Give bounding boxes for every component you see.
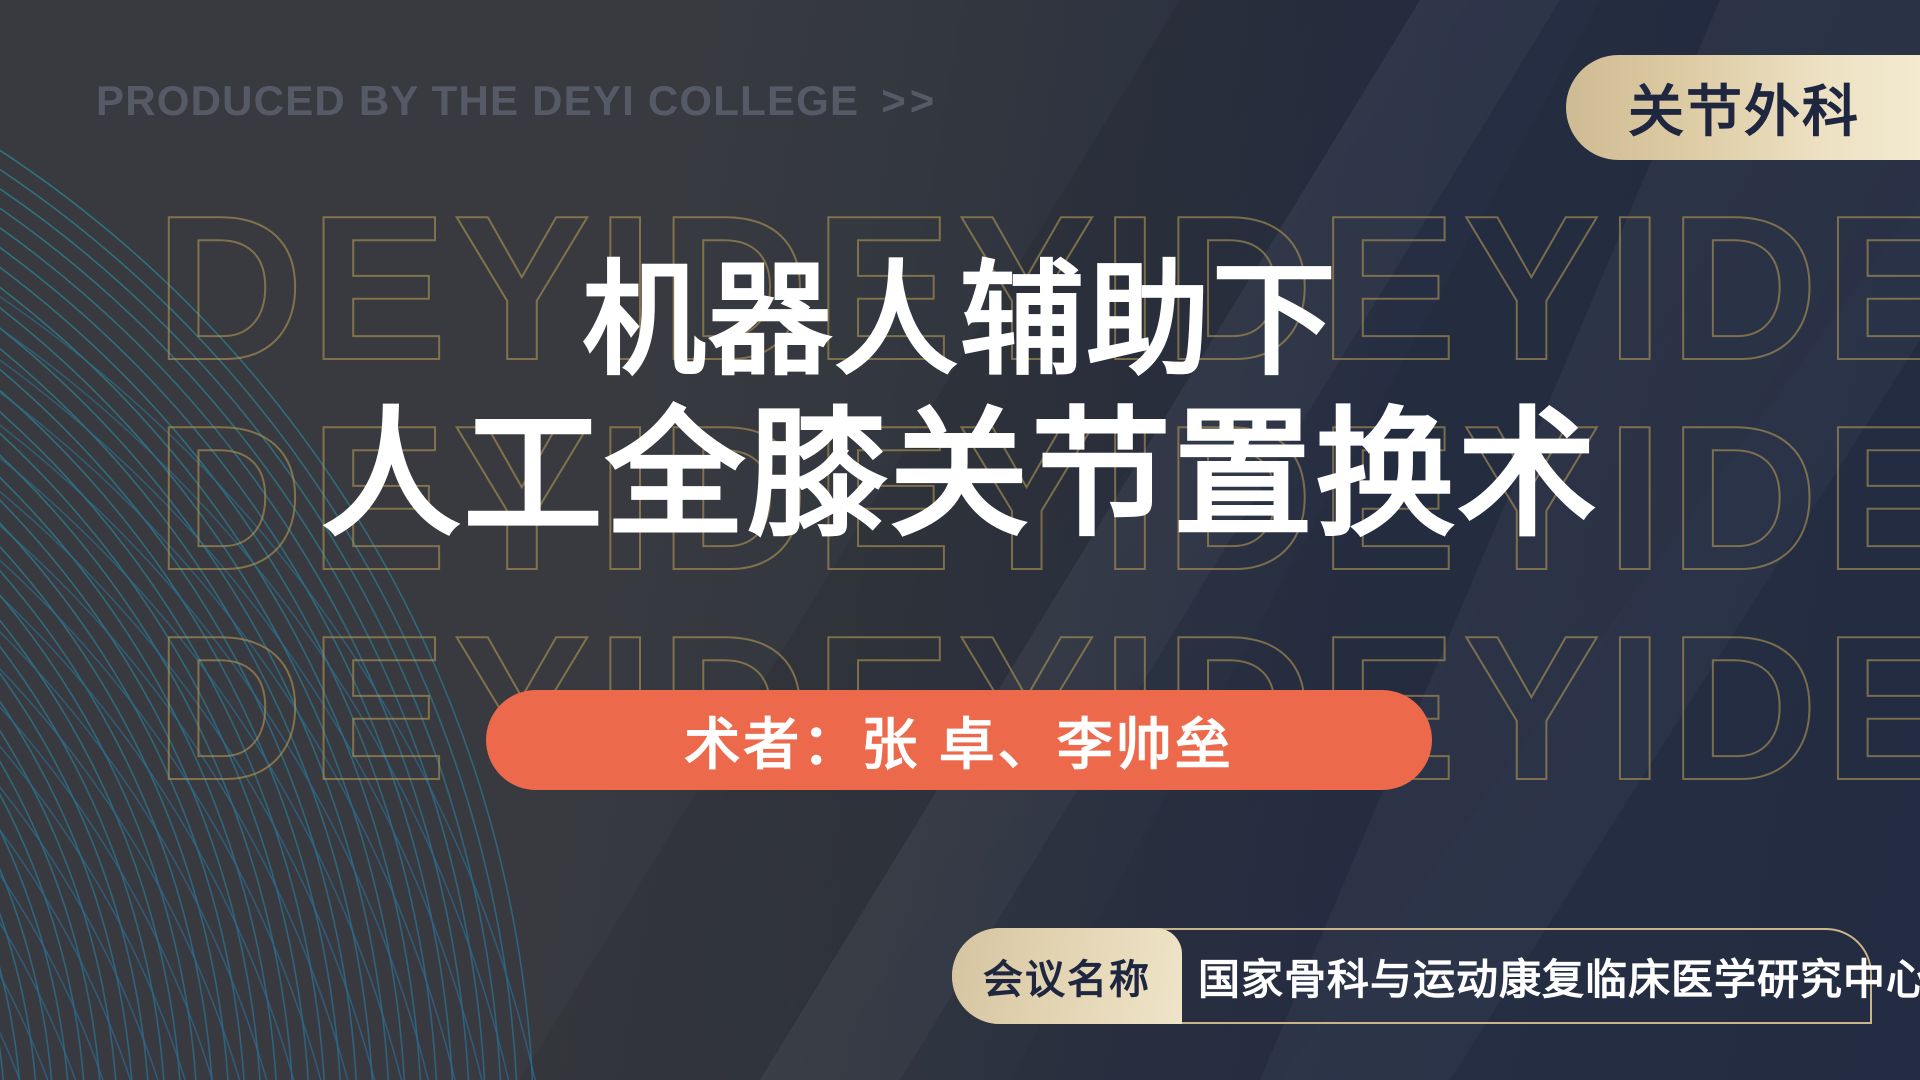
- surgeon-names: 术者：张 卓、李帅垒: [684, 700, 1234, 781]
- eyebrow-heading: PRODUCED BY THE DEYI COLLEGE>>: [96, 77, 938, 125]
- department-badge-label: 关节外科: [1628, 67, 1860, 148]
- conference-label-text: 会议名称: [983, 947, 1151, 1005]
- title-line-2: 人工全膝关节置换术: [0, 397, 1920, 554]
- eyebrow-text: PRODUCED BY THE DEYI COLLEGE: [96, 77, 859, 124]
- conference-name: 国家骨科与运动康复临床医学研究中心: [1198, 928, 1920, 1024]
- chevron-right-icon: >>: [881, 77, 938, 125]
- poster-canvas: DEYIDEYIDEYIDEYI DEYIDEYIDEYIDEYI DEYIDE…: [0, 0, 1920, 1080]
- conference-footer: 会议名称 国家骨科与运动康复临床医学研究中心: [952, 928, 1872, 1024]
- conference-label-chip: 会议名称: [952, 928, 1182, 1024]
- conference-name-text: 国家骨科与运动康复临床医学研究中心: [1198, 946, 1920, 1007]
- page-title: 机器人辅助下 人工全膝关节置换术: [0, 252, 1920, 554]
- surgeon-badge: 术者：张 卓、李帅垒: [486, 690, 1432, 790]
- department-badge: 关节外科: [1566, 55, 1920, 160]
- title-line-1: 机器人辅助下: [0, 252, 1920, 391]
